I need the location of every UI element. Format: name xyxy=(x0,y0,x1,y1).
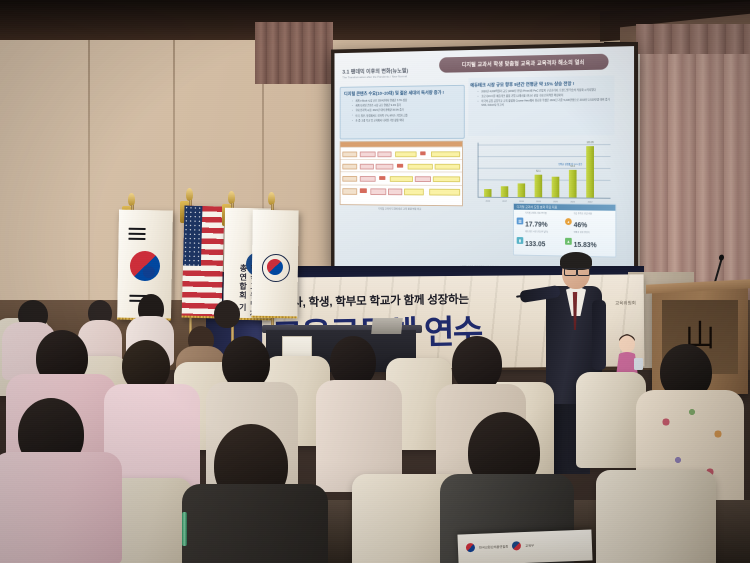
bar-chart-icon: ▥ xyxy=(517,218,524,225)
kpi-caption: 연평균 성장 전망치 xyxy=(574,232,597,234)
diagram-cell xyxy=(415,176,431,182)
slide-comparison-diagram xyxy=(340,141,463,207)
diagram-row xyxy=(341,172,462,185)
projected-slide: 디지털 교과서 학생 맞춤형 교육과 교육격차 해소의 열쇠 3.1 팬데믹 이… xyxy=(335,46,635,275)
slide-content: 디지털 교과서 학생 맞춤형 교육과 교육격차 해소의 열쇠 3.1 팬데믹 이… xyxy=(335,46,635,275)
diagram-cell xyxy=(397,164,403,168)
glasses-icon xyxy=(577,268,590,276)
audience-head xyxy=(214,300,240,328)
diagram-row xyxy=(341,147,462,160)
glasses-icon xyxy=(564,268,577,276)
speaker-arm-right xyxy=(592,300,606,370)
bullet: 초·중·고생 학교 밖 교육에서 디지털 기반 활용 확대 xyxy=(352,118,457,123)
diagram-label-cell xyxy=(342,176,357,182)
diagram-label-cell xyxy=(342,151,357,157)
slide-right-bullets: 2020년 4,000억달러 규모 (2030년 전망) Prime)와 PwC… xyxy=(478,88,611,109)
kpi-value: 133.05 xyxy=(525,241,545,248)
kpi-item: ▮ 에듀테크 시장 규모(억 달러) 133.05 xyxy=(517,231,563,250)
kpi-item: ▲ 연평균 성장 전망치 15.83% xyxy=(565,232,612,251)
kpi-item: ▥ 디지털 콘텐츠 이용 증가율 17.79% xyxy=(517,212,563,231)
kpi-item: ◕ 학습 만족도 응답 비율 46% xyxy=(565,213,612,232)
diagram-cell xyxy=(420,151,425,155)
curtain-above-screen xyxy=(255,22,333,84)
diagram-cell xyxy=(404,189,424,195)
flag-united-states xyxy=(182,205,225,318)
diagram-cell xyxy=(360,164,374,170)
diagram-row xyxy=(341,184,462,197)
diagram-caption: 디지털 교과서 도입에 따른 교육 환경 변화 비교 xyxy=(340,206,461,211)
bullet: 미국의 공립 공립학교 교육 활성화 Course Hero에서 유료한 학생은… xyxy=(478,99,611,108)
water-bottle xyxy=(182,512,187,546)
diagram-cell xyxy=(388,189,402,195)
diagram-cell xyxy=(390,176,413,182)
chart-bar: 52.1 xyxy=(535,174,543,197)
flag-canton-stars xyxy=(183,205,202,266)
chair xyxy=(596,470,716,563)
chart-x-label: 2017 xyxy=(502,200,507,202)
kpi-value: 17.79% xyxy=(525,222,547,229)
kpi-caption: 에듀테크 시장 규모(억 달러) xyxy=(525,231,548,233)
diagram-row xyxy=(341,159,462,172)
diagram-cell xyxy=(360,151,376,157)
bullet: 미국, 일본, 유럽에서도 전자책 구독 서비스 가입자 급증 xyxy=(352,113,457,118)
flag-organization-emblem xyxy=(251,210,299,319)
name-placard: 한국교원단체총연합회 교육부 xyxy=(457,529,592,563)
diagram-label-cell xyxy=(342,188,357,194)
slide-pill-title: 디지털 교과서 학생 맞춤형 교육과 교육격차 해소의 열쇠 xyxy=(439,54,608,73)
diagram-label-cell xyxy=(342,164,357,170)
slide-kpi-panel: 디지털 교과서 도입 효과 주요 지표 ▥ 디지털 콘텐츠 이용 증가율 17.… xyxy=(513,203,616,258)
chart-bar xyxy=(518,183,526,197)
placard-line2: 교육부 xyxy=(525,543,534,547)
chart-bar: 63.4 xyxy=(569,169,577,197)
taegeuk-logo-icon xyxy=(466,543,475,552)
kpi-value: 46% xyxy=(574,222,588,229)
diagram-cell xyxy=(360,188,367,192)
laptop xyxy=(371,318,403,334)
pie-chart-icon: ◕ xyxy=(565,218,572,225)
diagram-cell xyxy=(435,164,461,170)
diagram-cell xyxy=(433,176,460,182)
curtain-valance xyxy=(636,24,750,54)
bar-chart-icon: ▮ xyxy=(517,237,524,244)
slide-section-subheading: The Transformation after the Pandemic / … xyxy=(342,74,407,79)
diagram-cell xyxy=(360,176,376,182)
org-logo-icon xyxy=(512,541,521,550)
chart-bar-value: 133.05 xyxy=(587,141,594,144)
chart-bar xyxy=(501,186,508,197)
chart-bar xyxy=(552,176,560,197)
screenshot-root: 디지털 교과서 학생 맞춤형 교육과 교육격차 해소의 열쇠 3.1 팬데믹 이… xyxy=(0,0,750,563)
diagram-cell xyxy=(395,151,416,157)
wall-seam xyxy=(173,0,175,300)
diagram-cell xyxy=(370,189,386,195)
slide-bar-chart: 52.1 63.4 133.05 2016 2017 2018 2019 202… xyxy=(468,138,612,208)
chart-x-label: 2016 xyxy=(486,200,491,202)
diagram-cell xyxy=(408,164,433,170)
chart-bar: 133.05 xyxy=(586,146,594,198)
diagram-cell xyxy=(379,176,385,180)
slide-left-bullets: 세계 e-Book 시장 규모 2024년까지 연평균 5.7% 성장 세계 디… xyxy=(352,98,457,124)
kpi-caption: 디지털 콘텐츠 이용 증가율 xyxy=(525,212,547,214)
kpi-caption: 학습 만족도 응답 비율 xyxy=(574,213,592,215)
banner-organizer: 교육위원회 xyxy=(615,300,636,306)
taegeuk-circle xyxy=(267,259,283,275)
wall-seam xyxy=(88,0,90,300)
diagram-cell xyxy=(377,151,391,157)
kpi-value: 15.83% xyxy=(574,242,597,249)
arrow-up-icon: ▲ xyxy=(565,238,572,245)
diagram-cell xyxy=(376,164,394,170)
placard-line1: 한국교원단체총연합회 xyxy=(479,544,508,549)
projection-screen: 디지털 교과서 학생 맞춤형 교육과 교육격차 해소의 열쇠 3.1 팬데믹 이… xyxy=(331,42,638,279)
audience-torso xyxy=(0,452,122,563)
chart-annotation: 연평균 성장률 약 15% 상승 xyxy=(558,164,583,167)
diagram-cell xyxy=(429,189,460,195)
diagram-cell xyxy=(431,151,460,157)
chart-bar-value: 52.1 xyxy=(536,169,540,172)
chart-bar xyxy=(484,189,491,197)
audience-torso xyxy=(182,484,328,563)
